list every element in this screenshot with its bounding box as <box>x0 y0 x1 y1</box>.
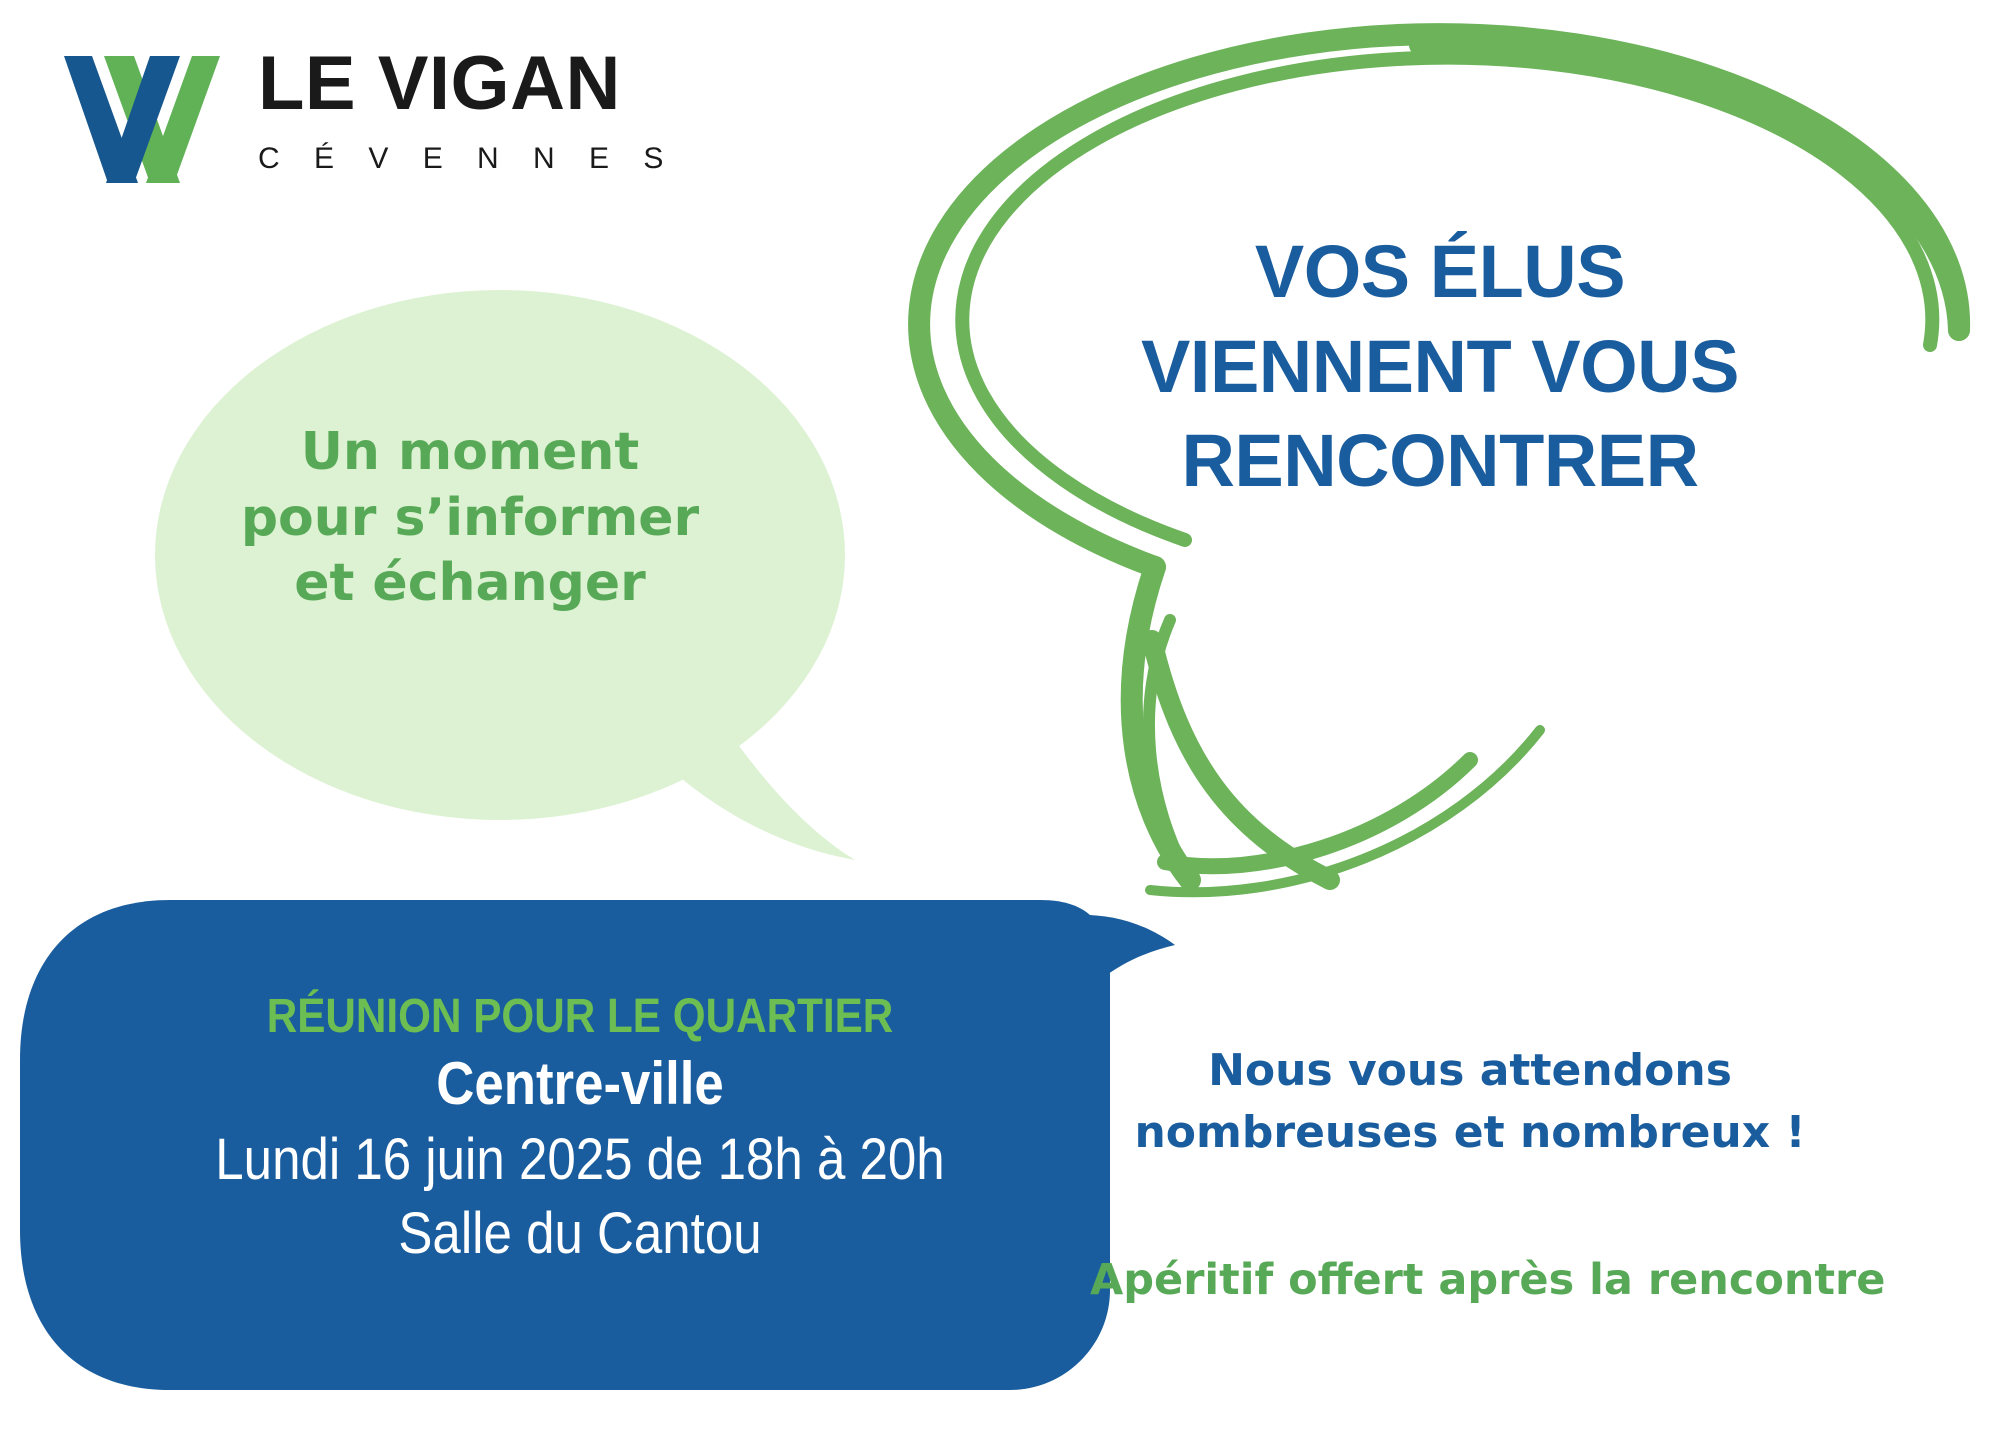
green-bubble-text: Un moment pour s’informer et échanger <box>175 420 765 617</box>
invitation-note: Nous vous attendons nombreuses et nombre… <box>1110 1040 1830 1165</box>
meeting-details: RÉUNION POUR LE QUARTIER Centre-ville Lu… <box>80 990 1080 1271</box>
headline-text: VOS ÉLUS VIENNENT VOUS RENCONTRER <box>1060 225 1820 509</box>
invitation-note-line-2: nombreuses et nombreux ! <box>1110 1102 1830 1164</box>
green-bubble-line-1: Un moment <box>175 420 765 486</box>
logo-wordmark: LE VIGAN C É V E N N E S <box>258 46 738 196</box>
meeting-room: Salle du Cantou <box>140 1197 1020 1271</box>
headline-line-1: VOS ÉLUS <box>1060 225 1820 320</box>
green-bubble-line-3: et échanger <box>175 551 765 617</box>
le-vigan-chevron-mark-icon <box>62 38 222 183</box>
headline-line-3: RENCONTRER <box>1060 414 1820 509</box>
logo-title: LE VIGAN <box>258 46 738 122</box>
headline-line-2: VIENNENT VOUS <box>1060 320 1820 415</box>
poster-canvas: LE VIGAN C É V E N N E S Un moment pour … <box>0 0 2000 1429</box>
meeting-quartier-label: RÉUNION POUR LE QUARTIER <box>140 990 1020 1044</box>
meeting-place: Centre-ville <box>140 1044 1020 1123</box>
le-vigan-logo: LE VIGAN C É V E N N E S <box>62 38 742 208</box>
green-bubble-line-2: pour s’informer <box>175 486 765 552</box>
logo-subtitle: C É V E N N E S <box>258 144 738 174</box>
aperitif-note: Apéritif offert après la rencontre <box>1090 1255 1850 1307</box>
meeting-date: Lundi 16 juin 2025 de 18h à 20h <box>140 1123 1020 1197</box>
invitation-note-line-1: Nous vous attendons <box>1110 1040 1830 1102</box>
